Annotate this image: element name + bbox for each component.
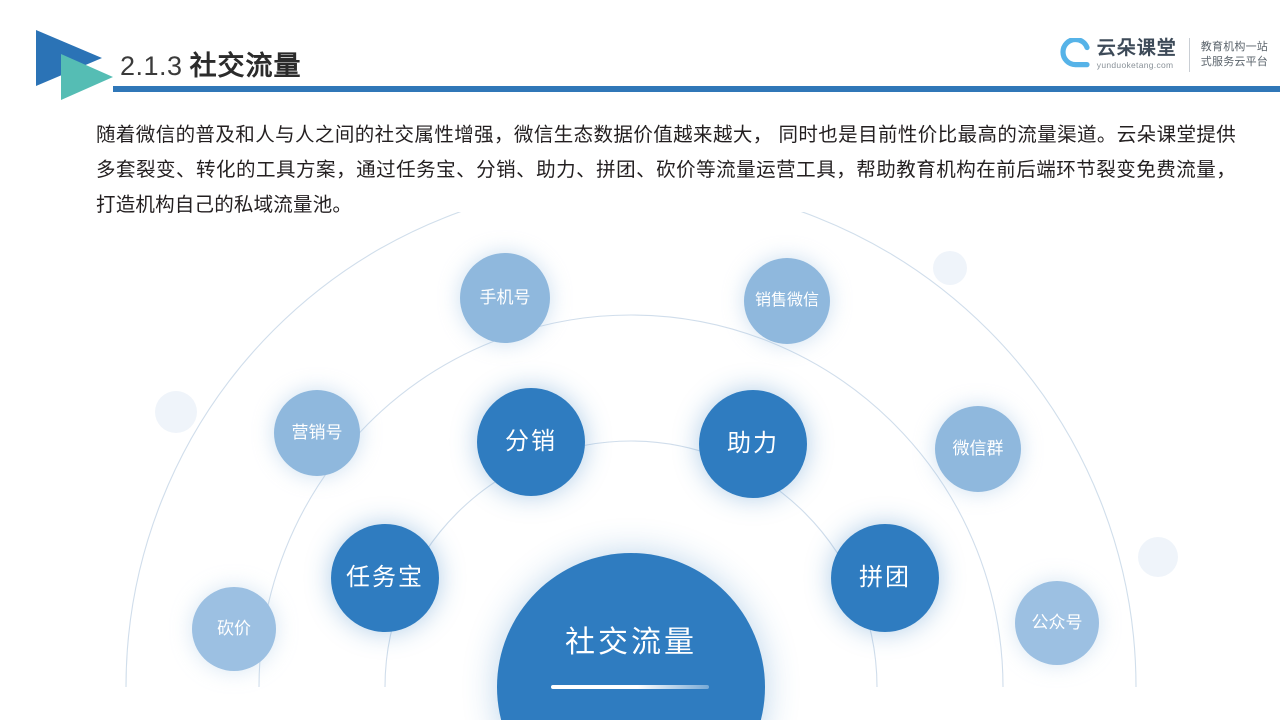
brand-lockup: 云朵课堂 yunduoketang.com 教育机构一站 式服务云平台: [1060, 32, 1268, 78]
slide-canvas: 2.1.3 社交流量 云朵课堂 yunduoketang.com 教育机构一站 …: [0, 0, 1280, 720]
brand-tagline-line1: 教育机构一站: [1201, 40, 1268, 55]
diagram-node-zhuli[interactable]: 助力: [699, 390, 807, 498]
diagram-node-weixinqun[interactable]: 微信群: [935, 406, 1021, 492]
brand-domain: yunduoketang.com: [1097, 60, 1177, 71]
node-label: 公众号: [1032, 614, 1083, 633]
diagram-node-kanjia[interactable]: 砍价: [192, 587, 276, 671]
cloud-icon: [1060, 38, 1096, 72]
node-label: 助力: [727, 431, 779, 457]
brand-divider: [1189, 38, 1190, 72]
node-label: 分销: [505, 429, 557, 455]
title-underline-rule: [113, 86, 1280, 92]
body-paragraph: 随着微信的普及和人与人之间的社交属性增强，微信生态数据价值越来越大， 同时也是目…: [96, 118, 1236, 223]
node-label: 手机号: [480, 289, 531, 308]
brand-tagline-line2: 式服务云平台: [1201, 55, 1268, 70]
diagram-node-renwubao[interactable]: 任务宝: [331, 524, 439, 632]
decorative-circle: [1138, 537, 1178, 577]
brand-name-cn: 云朵课堂: [1097, 39, 1177, 59]
brand-tagline: 教育机构一站 式服务云平台: [1201, 40, 1268, 70]
social-traffic-diagram: 手机号 销售微信 营销号 分销 助力 微信群 任务宝 拼团 砍价 公众号 社交流…: [0, 212, 1280, 720]
diagram-node-gongzhonghao[interactable]: 公众号: [1015, 581, 1099, 665]
diagram-node-xiaoshouweixin[interactable]: 销售微信: [744, 258, 830, 344]
diagram-node-fenxiao[interactable]: 分销: [477, 388, 585, 496]
diagram-node-shoujihao[interactable]: 手机号: [460, 253, 550, 343]
diagram-node-pintuan[interactable]: 拼团: [831, 524, 939, 632]
diagram-hub-label: 社交流量: [497, 617, 765, 661]
node-label: 砍价: [217, 620, 251, 639]
section-number: 2.1.3: [120, 51, 183, 82]
node-label: 营销号: [292, 424, 343, 443]
diagram-node-yingxiaohao[interactable]: 营销号: [274, 390, 360, 476]
node-label: 拼团: [859, 565, 911, 591]
page-title: 2.1.3 社交流量: [120, 44, 302, 83]
node-label: 销售微信: [755, 292, 819, 310]
brand-wordmark: 云朵课堂 yunduoketang.com: [1097, 39, 1177, 71]
node-label: 微信群: [953, 440, 1004, 459]
decorative-circle: [933, 251, 967, 285]
play-triangle-logo-icon: [28, 28, 120, 102]
diagram-hub-underline: [551, 685, 709, 689]
decorative-circle: [155, 391, 197, 433]
section-title: 社交流量: [190, 44, 302, 83]
node-label: 任务宝: [346, 565, 424, 591]
